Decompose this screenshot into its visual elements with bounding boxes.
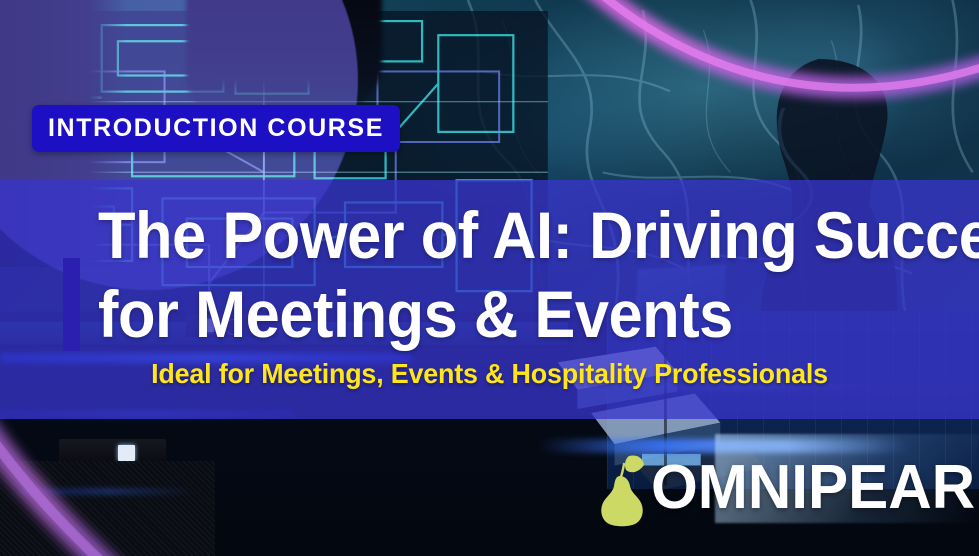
introduction-course-badge: INTRODUCTION COURSE [32, 105, 400, 152]
title-line-2: for Meetings & Events [98, 275, 907, 354]
page-subtitle: Ideal for Meetings, Events & Hospitality… [20, 358, 960, 390]
speaker-grille [0, 461, 215, 556]
omnipear-logo: OMNIPEAR [591, 448, 979, 528]
badge-label: INTRODUCTION COURSE [48, 114, 384, 143]
pear-logo-icon [591, 448, 653, 528]
logo-wordmark: OMNIPEAR [651, 457, 975, 519]
page-title: The Power of AI: Driving Success for Mee… [98, 196, 907, 354]
led-strip [20, 489, 196, 494]
title-line-1: The Power of AI: Driving Success [98, 196, 907, 275]
title-accent-bar [63, 258, 80, 351]
poster-canvas: INTRODUCTION COURSE The Power of AI: Dri… [0, 0, 979, 556]
